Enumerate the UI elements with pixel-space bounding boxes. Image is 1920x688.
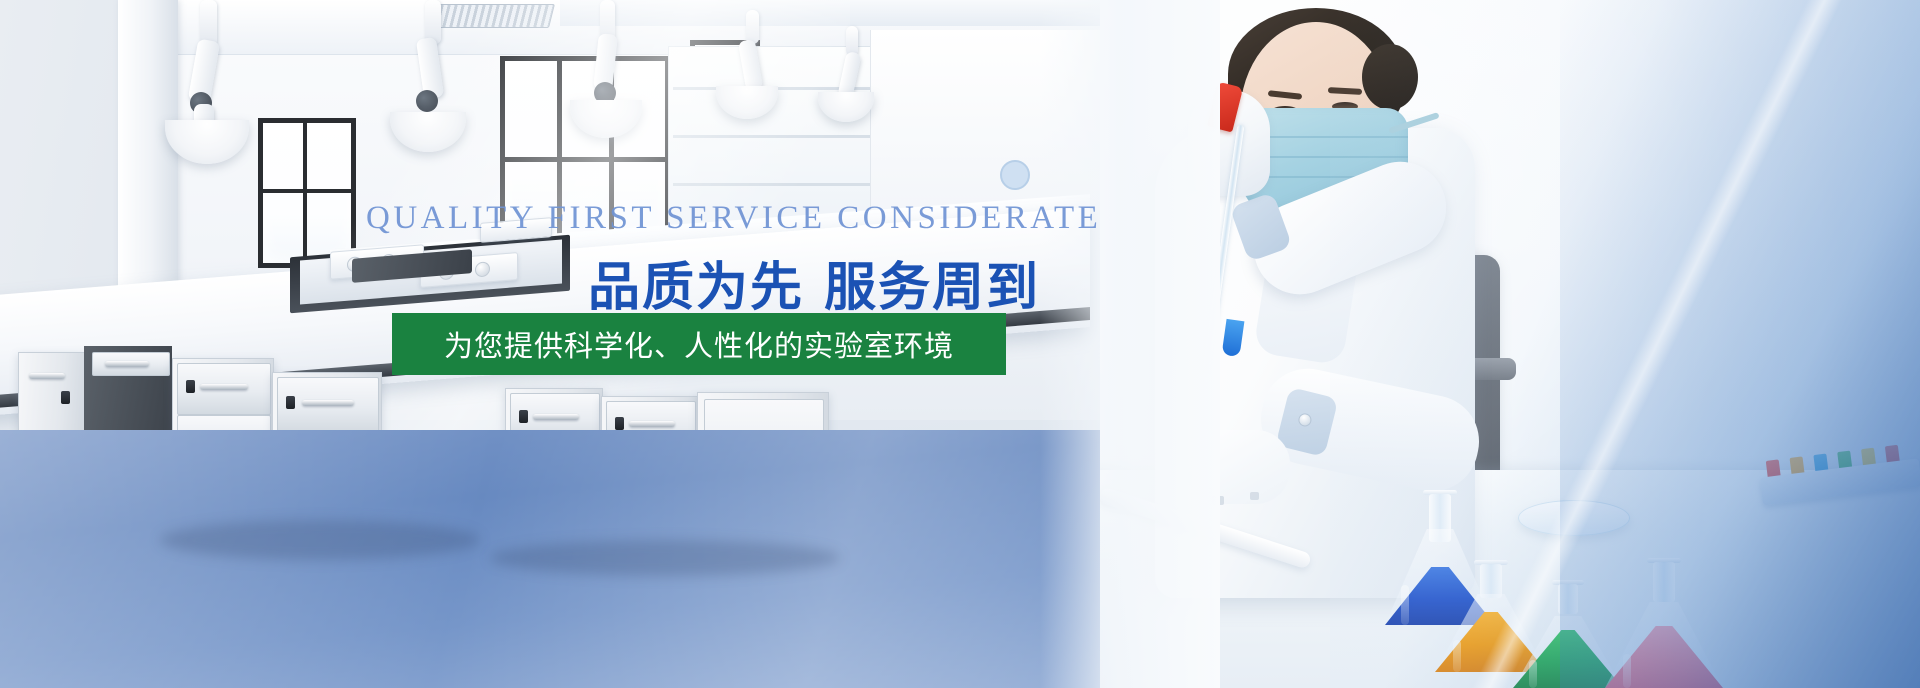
text-overlay: QUALITY FIRST SERVICE CONSIDERATE 品质为先 服… xyxy=(0,0,1920,688)
english-tagline: QUALITY FIRST SERVICE CONSIDERATE xyxy=(366,200,1046,237)
subtitle-chinese: 为您提供科学化、人性化的实验室环境 xyxy=(444,323,954,365)
hero-banner: QUALITY FIRST SERVICE CONSIDERATE 品质为先 服… xyxy=(0,0,1920,688)
subtitle-green-bar: 为您提供科学化、人性化的实验室环境 xyxy=(392,313,1006,375)
headline-chinese: 品质为先 服务周到 xyxy=(588,245,1040,320)
